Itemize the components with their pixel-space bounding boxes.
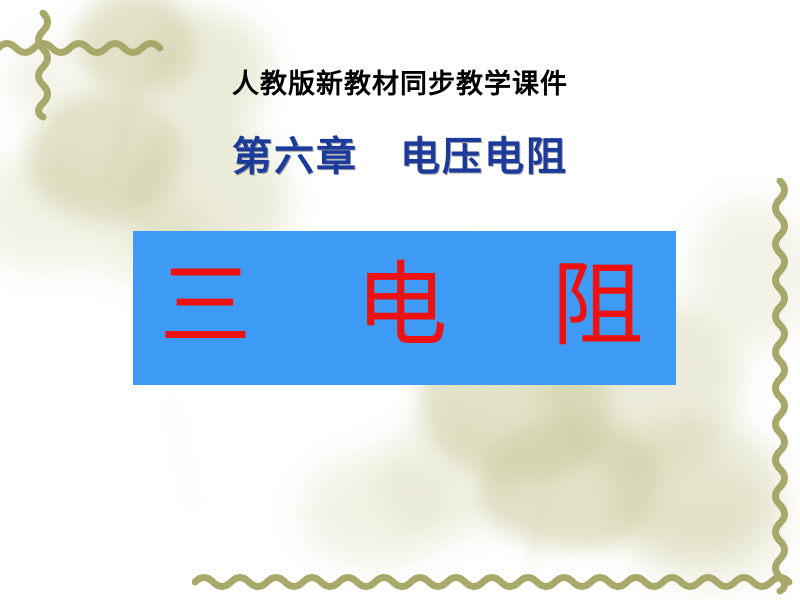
chapter-title: 第六章 电压电阻 bbox=[0, 124, 800, 182]
presentation-slide: 人教版新教材同步教学课件 第六章 电压电阻 三 电 阻 bbox=[0, 0, 800, 600]
foliage-blob bbox=[300, 455, 450, 565]
foliage-blob bbox=[480, 420, 660, 550]
lesson-title: 三 电 阻 bbox=[159, 260, 649, 352]
foliage-stem bbox=[527, 431, 559, 580]
foliage-stem bbox=[169, 401, 197, 510]
course-subtitle: 人教版新教材同步教学课件 bbox=[0, 62, 800, 101]
foliage-blob bbox=[630, 470, 790, 590]
foliage-blob bbox=[380, 415, 520, 535]
wavy-horizontal-rule-top-icon bbox=[0, 22, 176, 64]
wavy-vertical-rule-right-icon bbox=[760, 178, 800, 600]
foliage-blob bbox=[610, 420, 780, 560]
wavy-horizontal-rule-bottom-icon bbox=[192, 556, 800, 598]
foliage-blob bbox=[690, 200, 800, 350]
lesson-title-banner: 三 电 阻 bbox=[133, 231, 676, 385]
